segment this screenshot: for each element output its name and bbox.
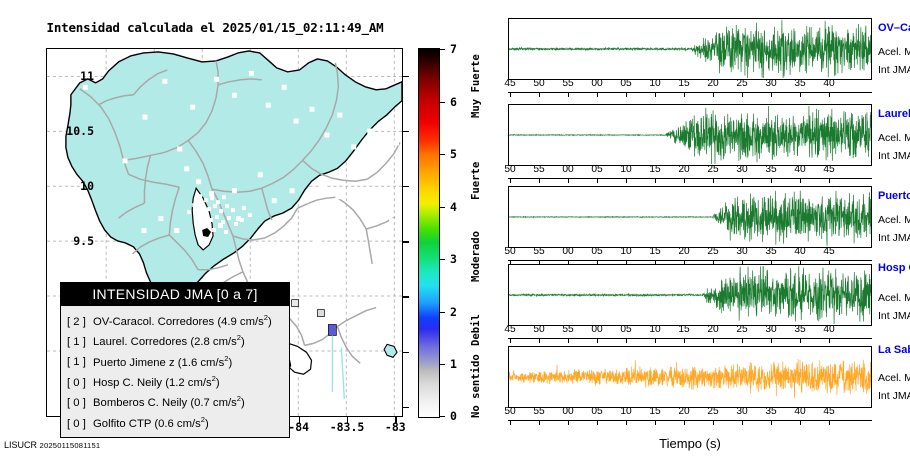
- legend-station: OV-Caracol. Corredores: [93, 316, 214, 328]
- acel-max-label: Acel. Max. 1.1: [878, 46, 910, 58]
- acel-max-label: Acel. Max. 0.3: [878, 292, 910, 304]
- legend-close: ): [216, 377, 220, 389]
- acel-max-label: Acel. Max. 0.0: [878, 372, 910, 384]
- axis-tick-label: 40: [794, 164, 805, 175]
- axis-tick: [655, 178, 656, 183]
- axis-tick-label: 30: [736, 164, 747, 175]
- legend-item: [ 0 ]Bomberos C. Neily (0.7 cm/s2): [67, 391, 283, 411]
- axis-tick: [655, 338, 656, 343]
- axis-tick: [771, 178, 772, 183]
- axis-tick-label: 15: [678, 324, 689, 335]
- colorbar-category: No sentido: [470, 354, 482, 418]
- axis-tick: [597, 92, 598, 97]
- colorbar-category: Fuerte: [470, 162, 482, 200]
- footer-credit: LISUCR 20250115081151: [4, 440, 100, 450]
- map-ytick: 10: [80, 179, 94, 193]
- colorbar-tick: 1: [450, 357, 457, 371]
- axis-tick-label: 35: [794, 78, 805, 89]
- axis-tick-label: 40: [794, 246, 805, 257]
- axis-tick: [829, 92, 830, 97]
- axis-tick-label: 05: [620, 78, 631, 89]
- colorbar-tick: 5: [450, 147, 457, 161]
- axis-tick-label: 45: [504, 324, 515, 335]
- axis-tick-label: 35: [765, 246, 776, 257]
- station-name: OV–Caracol, Corredore: [878, 22, 910, 34]
- legend-index: [ 2 ]: [67, 315, 93, 331]
- axis-tick-label: 00: [591, 78, 602, 89]
- map-ytick: 10.5: [66, 124, 94, 138]
- axis-tick: [510, 420, 511, 425]
- axis-tick: [684, 420, 685, 425]
- axis-tick-label: 05: [591, 164, 602, 175]
- legend-close: ): [241, 336, 245, 348]
- axis-tick-label: 30: [765, 78, 776, 89]
- axis-tick: [655, 420, 656, 425]
- axis-tick-label: 40: [823, 324, 834, 335]
- waveform-plot: [508, 18, 872, 80]
- isla-caribe: [384, 344, 397, 357]
- axis-tick: [742, 178, 743, 183]
- legend-accel: (1.2 cm/s: [165, 377, 211, 389]
- legend-index: [ 0 ]: [67, 417, 93, 433]
- legend-list: [ 2 ]OV-Caracol. Corredores (4.9 cm/s2) …: [61, 306, 289, 437]
- map-title: Intensidad calculada el 2025/01/15_02:11…: [0, 20, 430, 35]
- axis-tick-label: 00: [562, 406, 573, 417]
- axis-tick: [539, 92, 540, 97]
- axis-tick-label: 25: [707, 164, 718, 175]
- axis-tick-label: 10: [649, 324, 660, 335]
- int-jma-label: Int JMA: 1: [878, 64, 910, 76]
- legend-accel: (2.8 cm/s: [190, 336, 236, 348]
- axis-tick-label: 15: [649, 164, 660, 175]
- axis-tick-label: 20: [678, 164, 689, 175]
- waveform-plot: [508, 264, 872, 326]
- waveform-plot: [508, 186, 872, 248]
- legend-accel: (0.6 cm/s: [154, 418, 200, 430]
- map-ytick: 11: [80, 69, 94, 83]
- station-name: Hosp C. Neily: [878, 262, 910, 274]
- axis-tick-label: 15: [678, 78, 689, 89]
- axis-tick: [568, 178, 569, 183]
- offshore-traces: [332, 335, 344, 399]
- map-ytick: 9.5: [73, 234, 94, 248]
- axis-tick-label: 20: [707, 78, 718, 89]
- axis-tick-label: 55: [533, 246, 544, 257]
- legend-item: [ 1 ]Laurel. Corredores (2.8 cm/s2): [67, 330, 283, 350]
- axis-tick: [713, 338, 714, 343]
- intensity-marker-jma1-a: [317, 310, 324, 317]
- footer-agency: LISUCR: [4, 440, 37, 450]
- axis-tick-label: 50: [504, 246, 515, 257]
- legend-item: [ 2 ]OV-Caracol. Corredores (4.9 cm/s2): [67, 310, 283, 330]
- axis-tick-label: 30: [736, 246, 747, 257]
- colorbar-tick: 0: [450, 409, 457, 423]
- axis-tick-label: 15: [649, 406, 660, 417]
- acel-max-label: Acel. Max. 1.1: [878, 132, 910, 144]
- axis-tick: [626, 420, 627, 425]
- axis-tick: [510, 338, 511, 343]
- axis-tick-label: 50: [504, 164, 515, 175]
- colorbar-gradient: [418, 48, 440, 418]
- time-axis: 505500051015202530354045: [508, 408, 872, 428]
- station-name: La Sabana: [878, 344, 910, 356]
- axis-tick: [771, 420, 772, 425]
- axis-tick: [568, 420, 569, 425]
- axis-tick-label: 05: [620, 324, 631, 335]
- axis-tick: [684, 178, 685, 183]
- axis-tick: [800, 338, 801, 343]
- intensity-colorbar: 7 6 5 4 3 2 1 0 Muy Fuerte Fuerte Modera…: [418, 48, 498, 418]
- axis-tick: [626, 92, 627, 97]
- axis-tick: [597, 178, 598, 183]
- axis-tick: [626, 338, 627, 343]
- axis-tick: [655, 92, 656, 97]
- axis-tick-label: 10: [620, 246, 631, 257]
- legend-close: ): [228, 356, 232, 368]
- axis-tick-label: 55: [562, 78, 573, 89]
- axis-tick: [829, 420, 830, 425]
- axis-tick-label: 00: [562, 246, 573, 257]
- seismogram-panel: 455055000510152025303540 OV–Caracol, Cor…: [500, 0, 910, 460]
- colorbar-category: Debil: [470, 314, 482, 346]
- legend-accel: (1.6 cm/s: [178, 356, 224, 368]
- axis-tick-label: 55: [562, 324, 573, 335]
- seismic-intensity-report: Intensidad calculada el 2025/01/15_02:11…: [0, 0, 910, 460]
- legend-station: Golfito CTP: [93, 418, 151, 430]
- axis-tick: [568, 92, 569, 97]
- axis-tick-label: 20: [678, 246, 689, 257]
- colorbar-tick: 4: [450, 200, 457, 214]
- legend-index: [ 1 ]: [67, 335, 93, 351]
- station-name: Laurel, Corredores: [878, 108, 910, 120]
- intensity-legend: INTENSIDAD JMA [0 a 7] [ 2 ]OV-Caracol. …: [60, 282, 290, 438]
- axis-tick-label: 50: [504, 406, 515, 417]
- legend-station: Hosp C. Neily: [93, 377, 162, 389]
- axis-tick: [684, 92, 685, 97]
- axis-tick-label: 30: [736, 406, 747, 417]
- legend-item: [ 1 ]Puerto Jimene z (1.6 cm/s2): [67, 351, 283, 371]
- axis-tick-label: 40: [823, 78, 834, 89]
- time-axis-label: Tiempo (s): [508, 436, 872, 451]
- legend-index: [ 0 ]: [67, 376, 93, 392]
- axis-tick-label: 05: [591, 406, 602, 417]
- axis-tick-label: 55: [533, 164, 544, 175]
- axis-tick: [510, 178, 511, 183]
- legend-close: ): [241, 397, 245, 409]
- axis-tick: [539, 420, 540, 425]
- legend-close: ): [268, 316, 272, 328]
- axis-tick-label: 45: [823, 246, 834, 257]
- intensity-marker-jma0-a: [292, 300, 299, 307]
- axis-tick-label: 35: [794, 324, 805, 335]
- footer-code: 20250115081151: [40, 441, 101, 450]
- axis-tick: [713, 420, 714, 425]
- axis-tick-label: 15: [649, 246, 660, 257]
- axis-tick: [713, 92, 714, 97]
- axis-tick-label: 00: [591, 324, 602, 335]
- legend-accel: (4.9 cm/s: [217, 316, 263, 328]
- costa-rica-landmass: [66, 51, 402, 299]
- axis-tick: [771, 92, 772, 97]
- axis-tick-label: 50: [533, 324, 544, 335]
- int-jma-label: Int JMA: 1: [878, 150, 910, 162]
- int-jma-label: Int JMA: 0: [878, 310, 910, 322]
- axis-tick: [800, 420, 801, 425]
- axis-tick: [800, 178, 801, 183]
- axis-tick-label: 25: [736, 78, 747, 89]
- time-axis: 455055000510152025303540: [508, 326, 872, 346]
- station-name: Puerto Jimenez: [878, 190, 910, 202]
- legend-title: INTENSIDAD JMA [0 a 7]: [61, 283, 289, 306]
- colorbar-category: Moderado: [470, 231, 482, 282]
- axis-tick-label: 50: [533, 78, 544, 89]
- axis-tick-label: 30: [765, 324, 776, 335]
- axis-tick: [539, 338, 540, 343]
- axis-tick: [742, 92, 743, 97]
- axis-tick-label: 05: [591, 246, 602, 257]
- axis-tick-label: 25: [707, 246, 718, 257]
- axis-tick: [800, 92, 801, 97]
- axis-tick: [539, 178, 540, 183]
- colorbar-tick: 7: [450, 42, 457, 56]
- legend-accel: (0.7 cm/s: [190, 397, 236, 409]
- colorbar-tick: 3: [450, 252, 457, 266]
- axis-tick-label: 25: [707, 406, 718, 417]
- axis-tick: [684, 338, 685, 343]
- axis-tick-label: 35: [765, 406, 776, 417]
- axis-tick: [771, 338, 772, 343]
- axis-tick-label: 45: [823, 406, 834, 417]
- legend-item: [ 0 ]Golfito CTP (0.6 cm/s2): [67, 412, 283, 432]
- axis-tick: [626, 178, 627, 183]
- intensity-marker-jma2: [328, 324, 336, 335]
- axis-tick-label: 10: [620, 164, 631, 175]
- legend-close: ): [205, 418, 209, 430]
- axis-tick: [568, 338, 569, 343]
- axis-tick: [742, 420, 743, 425]
- axis-tick: [597, 338, 598, 343]
- axis-tick-label: 40: [794, 406, 805, 417]
- waveform-plot: [508, 346, 872, 408]
- legend-station: Puerto Jimene z: [93, 356, 175, 368]
- axis-tick-label: 00: [562, 164, 573, 175]
- legend-station: Laurel. Corredores: [93, 336, 187, 348]
- legend-index: [ 1 ]: [67, 355, 93, 371]
- axis-tick-label: 35: [765, 164, 776, 175]
- time-axis: 455055000510152025303540: [508, 80, 872, 100]
- time-axis: 505500051015202530354045: [508, 166, 872, 186]
- axis-tick: [597, 420, 598, 425]
- int-jma-label: Int JMA: 1: [878, 232, 910, 244]
- colorbar-tick: 6: [450, 95, 457, 109]
- axis-tick: [510, 92, 511, 97]
- axis-tick-label: 20: [678, 406, 689, 417]
- axis-tick-label: 45: [504, 78, 515, 89]
- axis-tick-label: 10: [649, 78, 660, 89]
- axis-tick: [742, 338, 743, 343]
- legend-station: Bomberos C. Neily: [93, 397, 187, 409]
- axis-tick: [829, 178, 830, 183]
- colorbar-tick: 2: [450, 305, 457, 319]
- waveform-plot: [508, 104, 872, 166]
- acel-max-label: Acel. Max. 0.6: [878, 214, 910, 226]
- axis-tick: [829, 338, 830, 343]
- axis-tick: [713, 178, 714, 183]
- axis-tick-label: 25: [736, 324, 747, 335]
- legend-index: [ 0 ]: [67, 396, 93, 412]
- int-jma-label: Int JMA: 0: [878, 390, 910, 402]
- axis-tick-label: 20: [707, 324, 718, 335]
- colorbar-category: Muy Fuerte: [470, 54, 482, 118]
- axis-tick-label: 45: [823, 164, 834, 175]
- axis-tick-label: 10: [620, 406, 631, 417]
- legend-item: [ 0 ]Hosp C. Neily (1.2 cm/s2): [67, 371, 283, 391]
- axis-tick-label: 55: [533, 406, 544, 417]
- map-panel: Intensidad calculada el 2025/01/15_02:11…: [0, 0, 500, 460]
